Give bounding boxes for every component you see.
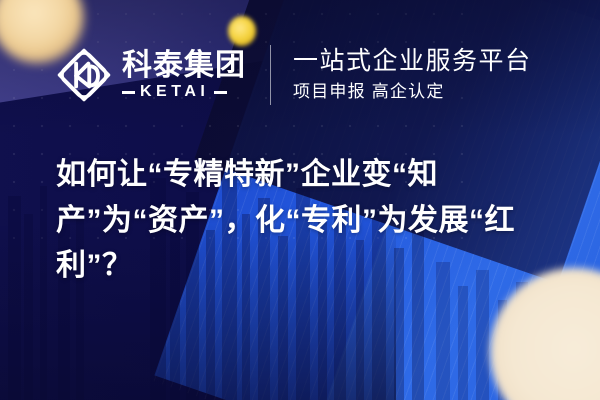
ketai-diamond-monogram-icon [56, 47, 112, 103]
brand-name-cn: 科泰集团 [122, 50, 246, 82]
brand-logo[interactable]: 科泰集团 KETAI [56, 38, 246, 112]
slogan-main: 一站式企业服务平台 [293, 47, 532, 77]
brand-name-en-row: KETAI [122, 84, 246, 100]
slogan-block: 一站式企业服务平台 项目申报 高企认定 [293, 47, 532, 103]
brand-name-en: KETAI [140, 84, 209, 100]
header-divider [270, 45, 271, 105]
brand-wordmark: 科泰集团 KETAI [122, 50, 246, 101]
wordmark-rule-left [122, 91, 135, 94]
headline-text: 如何让“专精特新”企业变“知产”为“资产”，化“专利”为发展“红利”？ [56, 152, 556, 289]
promotional-banner: 科泰集团 KETAI 一站式企业服务平台 项目申报 高企认定 如何让“专精特新”… [0, 0, 600, 400]
banner-header: 科泰集团 KETAI 一站式企业服务平台 项目申报 高企认定 [56, 38, 532, 112]
wordmark-rule-right [214, 91, 227, 94]
slogan-sub: 项目申报 高企认定 [293, 81, 532, 103]
